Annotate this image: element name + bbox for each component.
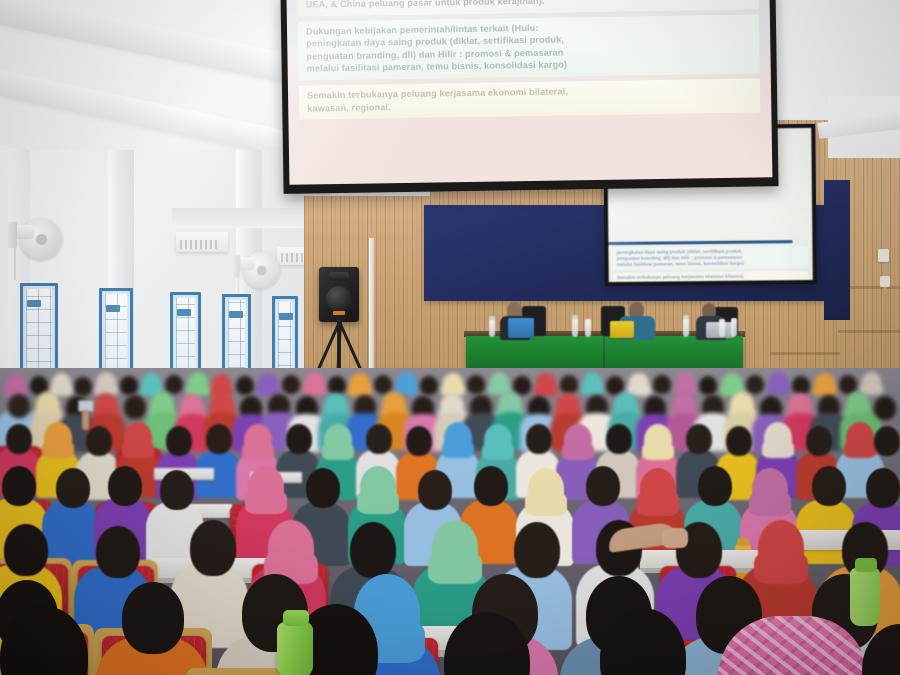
water-bottle <box>585 319 591 337</box>
seminar-hall-photo: cil dan menarik pa tenaa peningkatan day… <box>0 0 900 675</box>
hijab-head <box>142 373 161 393</box>
side-screen-accent-bar <box>608 240 792 245</box>
person-head <box>282 375 300 394</box>
person-head <box>236 376 254 395</box>
person-head <box>467 375 485 394</box>
hijab-head <box>305 372 324 392</box>
person-head <box>74 377 92 396</box>
wall-switch <box>878 249 889 262</box>
hijab-head <box>248 466 284 508</box>
seated-audience <box>0 368 900 675</box>
person-head <box>866 468 900 508</box>
person-head <box>699 376 717 395</box>
side-screen-block: peningkatan daya saing produk (diklat, s… <box>612 246 808 270</box>
hijab-head <box>188 372 208 393</box>
person-head <box>418 470 452 510</box>
person-head <box>586 466 620 506</box>
panelist-left <box>498 302 546 342</box>
vertical-pole <box>369 238 374 374</box>
slide-line: UEA, & China peluang pasar untuk produk … <box>306 0 751 11</box>
hijab-head <box>676 372 695 392</box>
green-tumbler-bottle <box>850 568 880 626</box>
person-head <box>306 468 340 508</box>
person-head <box>108 466 142 506</box>
slide-text-block: Dukungan kebijakan pemerintah/lintas ter… <box>298 14 760 81</box>
hijab-head <box>536 373 556 393</box>
hijab-head <box>846 422 874 454</box>
person-head <box>653 375 671 394</box>
side-screen-line: melalui fasilitasi pameran, temu bisnis,… <box>617 260 805 268</box>
hijab-head <box>528 468 564 510</box>
raised-arm <box>82 410 89 430</box>
person-head <box>726 426 752 456</box>
hijab-head <box>443 373 463 393</box>
person-head <box>474 466 508 506</box>
water-bottle <box>572 318 578 337</box>
bottle-cap <box>683 315 689 319</box>
person-head <box>526 424 552 454</box>
bottle-cap <box>855 558 877 572</box>
water-bottle <box>489 319 495 337</box>
navy-banner-strip <box>824 180 850 320</box>
bottle-cap <box>489 316 495 320</box>
hijab-head <box>769 372 788 392</box>
hijab-head <box>324 424 352 456</box>
hijab-head <box>350 373 370 393</box>
hijab-head <box>629 373 649 393</box>
person-head <box>166 426 192 456</box>
person-head <box>606 424 632 454</box>
hijab-head <box>752 468 788 510</box>
panelist-center <box>615 302 667 342</box>
bottle-cap <box>737 538 749 546</box>
person-head <box>420 376 438 395</box>
wall-socket <box>880 276 890 287</box>
hijab-head <box>564 424 592 456</box>
bottle-cap <box>572 315 578 319</box>
hijab-head <box>444 422 472 454</box>
green-tumbler-bottle <box>277 622 313 675</box>
slide-text-block: Semakin terbukanya peluang kerjasama eko… <box>299 78 760 119</box>
person-head <box>746 375 764 394</box>
water-bottle <box>731 318 737 337</box>
hijab-head <box>44 422 72 454</box>
hijab-head <box>397 372 416 392</box>
water-bottle <box>683 318 689 337</box>
wood-seam <box>770 352 840 355</box>
hijab-head <box>644 424 672 456</box>
hijab-head <box>268 520 314 576</box>
person-head <box>874 426 900 456</box>
person-head <box>56 468 90 508</box>
person-head <box>806 426 832 456</box>
hijab-head <box>96 372 116 393</box>
hijab-head <box>815 373 835 393</box>
blue-laptop <box>508 318 534 338</box>
person-head <box>206 424 232 454</box>
person-head <box>374 375 392 394</box>
hijab-head <box>862 372 881 392</box>
person-head <box>560 375 578 394</box>
wood-seam <box>838 330 900 333</box>
hand <box>662 528 688 548</box>
person-head <box>698 466 732 506</box>
hijab-head <box>258 373 278 393</box>
yellow-laptop <box>610 321 634 338</box>
hijab-head <box>52 373 71 393</box>
hijab-head <box>484 424 512 456</box>
ac-unit <box>176 232 228 252</box>
person-head <box>165 375 183 394</box>
hijab-head <box>244 424 272 456</box>
person-head <box>8 394 30 418</box>
person-head <box>366 424 392 454</box>
hijab-head <box>640 468 676 510</box>
hijab-head <box>432 520 478 576</box>
hijab-head <box>490 372 509 392</box>
person-body <box>42 500 100 564</box>
person-head <box>160 470 194 510</box>
person-head <box>686 424 712 454</box>
hijab-head <box>758 520 804 576</box>
hijab-head <box>360 466 396 508</box>
pa-speaker <box>319 267 359 322</box>
person-head <box>124 395 146 419</box>
person-head <box>350 522 396 578</box>
person-head <box>190 520 236 576</box>
person-head <box>6 424 32 454</box>
hijab-head <box>722 373 742 393</box>
person-head <box>122 582 184 654</box>
person-head <box>86 426 112 456</box>
person-head <box>406 426 432 456</box>
person-head <box>120 376 138 395</box>
bottle-cap <box>283 610 309 626</box>
hijab-head <box>583 372 602 392</box>
hijab-head <box>764 422 792 454</box>
water-bottle <box>719 319 725 337</box>
person-head <box>839 375 857 394</box>
person-head <box>514 522 560 578</box>
person-head <box>2 466 36 506</box>
main-projection-screen: UEA, & China peluang pasar untuk produk … <box>280 0 778 194</box>
hijab-head <box>6 374 26 394</box>
person-head <box>4 524 48 576</box>
person-head <box>286 424 312 454</box>
side-screen-block: Semakin terbukanya peluang kerjasama eko… <box>613 271 809 282</box>
person-head <box>874 396 896 420</box>
person-head <box>513 376 531 395</box>
hijab-head <box>124 422 152 454</box>
hijab-head <box>212 374 231 394</box>
person-head <box>812 466 846 506</box>
slide-text-block: UEA, & China peluang pasar untuk produk … <box>297 0 758 16</box>
person-head <box>96 526 140 578</box>
wall-fan <box>8 218 66 284</box>
